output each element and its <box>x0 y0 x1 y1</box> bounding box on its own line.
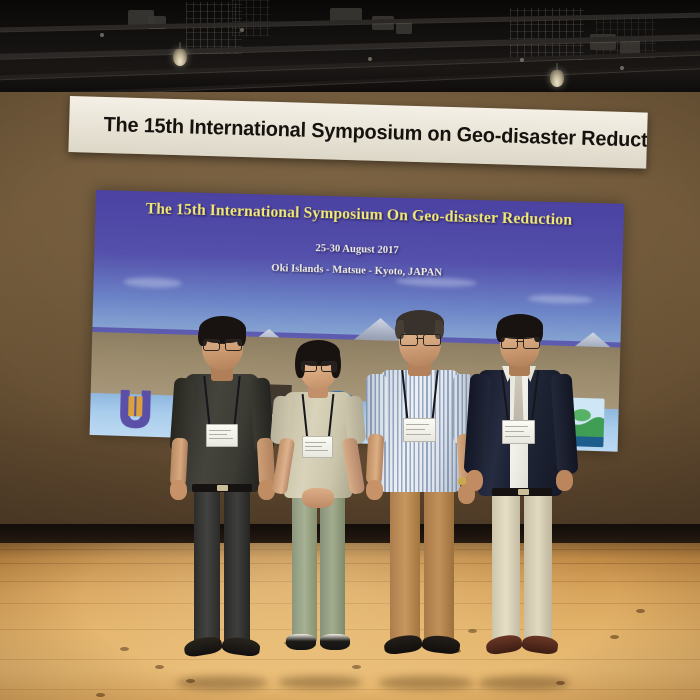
person-3-shoe-left <box>383 633 423 655</box>
person-3-hand-left <box>366 480 383 500</box>
person-2-sandal-left <box>286 634 316 650</box>
truss-joint-2 <box>240 28 244 32</box>
person-2-hands-clasped <box>302 488 334 508</box>
person-4-name-badge <box>502 420 535 444</box>
ceiling <box>0 0 700 96</box>
person-4-shoe-left <box>485 633 523 655</box>
person-2 <box>270 338 370 690</box>
person-4-hand-left <box>466 470 483 491</box>
university-logo-left-icon <box>112 384 159 431</box>
person-1-shoe-left <box>183 635 223 658</box>
person-2-sandal-right <box>320 634 350 650</box>
person-3-forearm-left <box>366 434 385 485</box>
truss-joint-1 <box>100 33 104 37</box>
person-2-leg-left <box>292 494 317 642</box>
truss-joint-3 <box>368 57 372 61</box>
conference-photo-scene: The 15th International Symposium on Geo-… <box>0 0 700 700</box>
person-1-shoe-right <box>221 635 261 657</box>
person-2-leg-right <box>320 494 345 642</box>
person-4-shoe-right <box>521 634 559 656</box>
person-1-hand-left <box>170 480 187 500</box>
person-1 <box>170 312 280 692</box>
person-2-name-badge <box>302 436 333 458</box>
truss-joint-5 <box>620 66 624 70</box>
ceiling-rig-box-7 <box>620 40 640 54</box>
person-1-leg-left <box>194 488 220 646</box>
person-4 <box>466 312 578 692</box>
person-1-leg-right <box>224 488 250 646</box>
person-2-arm-right <box>344 395 366 444</box>
person-4-leg-right <box>524 490 552 644</box>
person-1-belt-buckle <box>217 485 228 491</box>
person-3-name-badge <box>403 418 436 442</box>
person-4-hand-right <box>556 470 573 491</box>
person-3-leg-right <box>424 488 454 644</box>
person-4-belt-buckle <box>518 489 529 495</box>
person-3-leg-left <box>390 488 420 644</box>
person-3 <box>366 308 480 692</box>
person-1-name-badge <box>206 424 238 447</box>
stage-spotlight-2 <box>550 70 564 87</box>
stage-spotlight-1 <box>173 49 187 66</box>
ceiling-grid-panel-mid <box>232 0 270 36</box>
truss-joint-4 <box>520 58 524 62</box>
banner-title-text: The 15th International Symposium on Geo-… <box>78 112 648 153</box>
ceiling-rig-box-5 <box>396 22 412 34</box>
person-3-shoe-right <box>421 634 461 656</box>
person-4-leg-left <box>492 490 520 644</box>
